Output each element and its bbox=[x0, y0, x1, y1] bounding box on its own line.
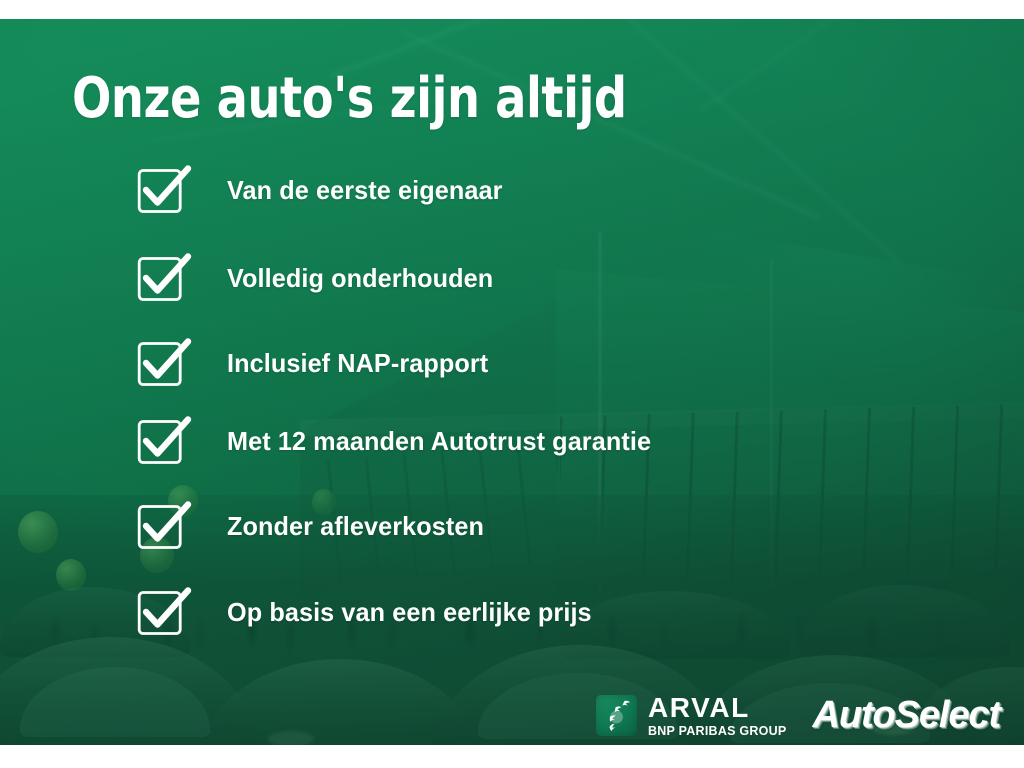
letterbox-bar-bottom bbox=[0, 745, 1024, 768]
list-item: Op basis van een eerlijke prijs bbox=[136, 583, 603, 641]
slide-content: Onze auto's zijn altijd Van de eerste ei… bbox=[0, 0, 1024, 768]
checkbox-check-icon bbox=[136, 499, 190, 553]
arval-logo: ARVAL BNP PARIBAS GROUP bbox=[596, 694, 787, 738]
footer-logos: ARVAL BNP PARIBAS GROUP AutoSelect bbox=[596, 694, 1000, 738]
list-item-label: Volledig onderhouden bbox=[227, 263, 493, 294]
arval-wordmark: ARVAL BNP PARIBAS GROUP bbox=[648, 694, 787, 738]
arval-subtitle: BNP PARIBAS GROUP bbox=[648, 725, 787, 738]
checkbox-check-icon bbox=[136, 414, 190, 468]
letterbox-bar-top bbox=[0, 0, 1024, 19]
list-item-label: Inclusief NAP-rapport bbox=[227, 348, 488, 379]
list-item: Van de eerste eigenaar bbox=[136, 161, 511, 219]
list-item-label: Zonder afleverkosten bbox=[227, 511, 484, 542]
list-item-label: Op basis van een eerlijke prijs bbox=[227, 597, 592, 628]
arval-name: ARVAL bbox=[648, 694, 787, 722]
promo-slide: Onze auto's zijn altijd Van de eerste ei… bbox=[0, 0, 1024, 768]
checkbox-check-icon bbox=[136, 336, 190, 390]
checkbox-check-icon bbox=[136, 251, 190, 305]
autoselect-logo: AutoSelect bbox=[813, 694, 1000, 737]
list-item: Volledig onderhouden bbox=[136, 249, 502, 307]
bnp-paribas-stars-icon bbox=[596, 695, 637, 736]
list-item: Inclusief NAP-rapport bbox=[136, 334, 496, 392]
list-item-label: Met 12 maanden Autotrust garantie bbox=[227, 426, 651, 457]
page-title: Onze auto's zijn altijd bbox=[72, 70, 627, 129]
checkbox-check-icon bbox=[136, 585, 190, 639]
list-item: Met 12 maanden Autotrust garantie bbox=[136, 412, 664, 470]
list-item-label: Van de eerste eigenaar bbox=[227, 175, 503, 206]
list-item: Zonder afleverkosten bbox=[136, 497, 492, 555]
checkbox-check-icon bbox=[136, 163, 190, 217]
